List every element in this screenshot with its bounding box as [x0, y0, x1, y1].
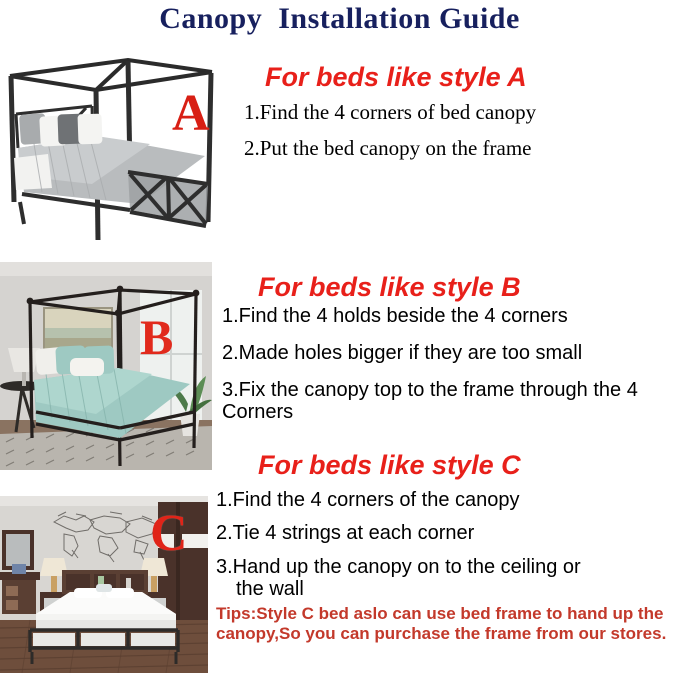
heading-style-c: For beds like style C	[258, 450, 521, 481]
page-title: Canopy Installation Guide	[0, 2, 679, 36]
style-marker-c: C	[150, 508, 188, 560]
step-item: 2.Tie 4 strings at each corner	[216, 522, 674, 544]
step-item: 1.Find the 4 corners of bed canopy	[244, 100, 536, 125]
step-item: 2.Made holes bigger if they are too smal…	[222, 342, 674, 365]
steps-style-c: 1.Find the 4 corners of the canopy 2.Tie…	[216, 489, 674, 612]
tips-note: Tips:Style C bed aslo can use bed frame …	[216, 604, 674, 644]
step-item-text: 3.Hand up the canopy on to the ceiling o…	[216, 556, 581, 578]
steps-style-a: 1.Find the 4 corners of bed canopy 2.Put…	[244, 100, 536, 172]
step-item: 1.Find the 4 corners of the canopy	[216, 489, 674, 511]
photo-style-b	[0, 262, 212, 470]
heading-style-b: For beds like style B	[258, 272, 521, 303]
step-item: 2.Put the bed canopy on the frame	[244, 136, 536, 161]
style-marker-a: A	[172, 88, 210, 140]
steps-style-b: 1.Find the 4 holds beside the 4 corners …	[222, 305, 674, 438]
step-item: 1.Find the 4 holds beside the 4 corners	[222, 305, 674, 328]
style-marker-b: B	[140, 312, 173, 362]
step-item-continuation: the wall	[216, 578, 674, 600]
step-item: 3.Fix the canopy top to the frame throug…	[222, 379, 674, 425]
heading-style-a: For beds like style A	[265, 62, 527, 93]
step-item: 3.Hand up the canopy on to the ceiling o…	[216, 556, 674, 601]
photo-style-a	[0, 52, 222, 250]
installation-guide-page: Canopy Installation Guide	[0, 0, 679, 673]
